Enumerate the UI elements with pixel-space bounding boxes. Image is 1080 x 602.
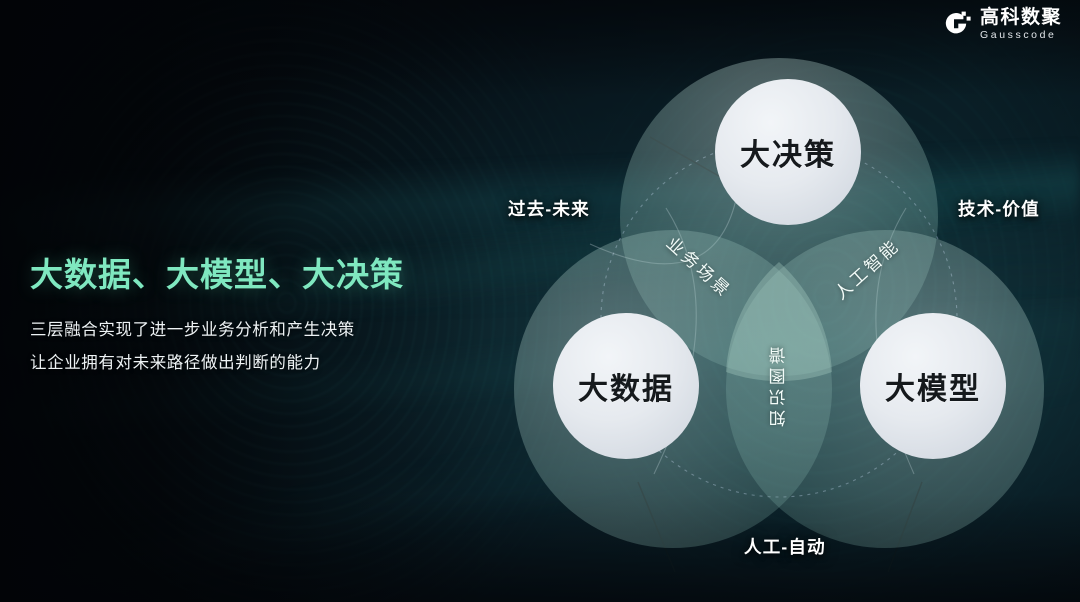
venn-axis-label-manual-auto: 人工-自动 xyxy=(744,534,826,559)
venn-axis-label-past-future: 过去-未来 xyxy=(508,196,590,221)
gausscode-c-mark-icon xyxy=(941,9,971,39)
brand-name-en: Gausscode xyxy=(980,30,1062,41)
slide-canvas: 高科数聚 Gausscode 大数据、大模型、大决策 三层融合实现了进一步业务分… xyxy=(0,0,1080,602)
brand-logo: 高科数聚 Gausscode xyxy=(941,8,1062,41)
venn-core-label-decision: 大决策 xyxy=(740,130,836,174)
venn-axis-label-tech-value: 技术-价值 xyxy=(958,196,1040,221)
slide-subtitle: 三层融合实现了进一步业务分析和产生决策 让企业拥有对未来路径做出判断的能力 xyxy=(30,314,460,382)
venn-diagram xyxy=(470,12,1050,590)
brand-name-cn: 高科数聚 xyxy=(980,8,1062,27)
copy-block: 大数据、大模型、大决策 三层融合实现了进一步业务分析和产生决策 让企业拥有对未来… xyxy=(30,255,460,381)
venn-core-label-bigmodel: 大模型 xyxy=(885,364,981,408)
brand-logo-text: 高科数聚 Gausscode xyxy=(980,8,1062,41)
subtitle-line-2: 让企业拥有对未来路径做出判断的能力 xyxy=(30,347,460,381)
subtitle-line-1: 三层融合实现了进一步业务分析和产生决策 xyxy=(30,314,460,348)
slide-title: 大数据、大模型、大决策 xyxy=(30,255,460,295)
venn-overlap-label-knowledge-graph: 知识图谱 xyxy=(767,343,792,427)
venn-core-label-bigdata: 大数据 xyxy=(578,364,674,408)
